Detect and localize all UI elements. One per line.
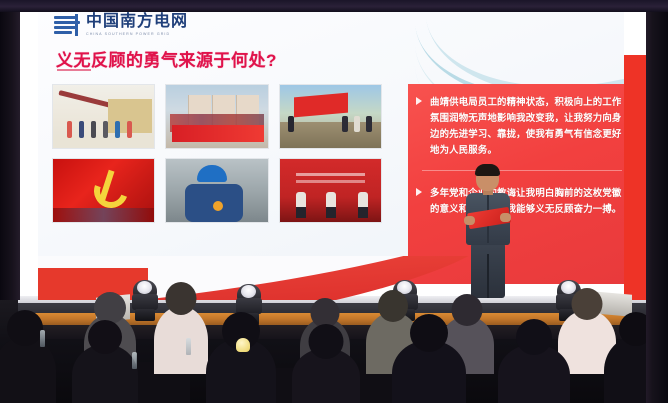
arrow-bullet-icon — [416, 188, 422, 196]
water-bottle — [186, 338, 191, 355]
audience-person — [292, 348, 360, 403]
presenter-figure — [462, 166, 514, 298]
left-wall-pillar — [0, 0, 20, 300]
panel-divider — [422, 170, 622, 171]
title-underline — [57, 69, 91, 71]
photo-4 — [52, 158, 155, 223]
audience-person — [0, 336, 56, 403]
right-wall-pillar — [646, 0, 668, 403]
photo-2 — [165, 84, 268, 149]
power-grid-logo-icon — [54, 14, 80, 36]
photo-row-bottom — [52, 158, 382, 223]
photo-1 — [52, 84, 155, 149]
brand-name-en: CHINA SOUTHERN POWER GRID — [86, 32, 188, 36]
bullet-text-2: 多年党和企业的教诲让我明白胸前的这枚党徽的意义和分量，使我能够义无反顾奋力一搏。 — [430, 185, 624, 217]
arrow-bullet-icon — [416, 97, 422, 105]
water-bottle — [132, 352, 137, 369]
slide-red-right-block — [624, 55, 648, 300]
brand-name-cn: 中国南方电网 — [86, 14, 188, 30]
bullet-item-2: 多年党和企业的教诲让我明白胸前的这枚党徽的意义和分量，使我能够义无反顾奋力一搏。 — [408, 175, 624, 223]
slide-title: 义无反顾的勇气来源于何处? — [56, 46, 277, 71]
photo-6 — [279, 158, 382, 223]
water-bottle — [40, 330, 45, 347]
presentation-slide: 中国南方电网 CHINA SOUTHERN POWER GRID 义无反顾的勇气… — [38, 6, 624, 284]
brand-logo: 中国南方电网 CHINA SOUTHERN POWER GRID — [54, 14, 188, 36]
photo-3 — [279, 84, 382, 149]
photo-row-top — [52, 84, 382, 149]
screenshot-root: 中国南方电网 CHINA SOUTHERN POWER GRID 义无反顾的勇气… — [0, 0, 668, 403]
audience-person — [392, 340, 466, 403]
audience-person — [154, 306, 208, 374]
led-screen-wall: 中国南方电网 CHINA SOUTHERN POWER GRID 义无反顾的勇气… — [18, 0, 648, 300]
moving-head-light-1 — [132, 280, 158, 324]
audience-person — [498, 344, 570, 403]
bullet-text-1: 曲靖供电局员工的精神状态，积极向上的工作氛围润物无声地影响我改变我，让我努力向身… — [430, 94, 624, 158]
audience-person — [72, 344, 138, 403]
cup — [236, 338, 250, 352]
red-text-panel: 曲靖供电局员工的精神状态，积极向上的工作氛围润物无声地影响我改变我，让我努力向身… — [408, 84, 624, 284]
bullet-item-1: 曲靖供电局员工的精神状态，积极向上的工作氛围润物无声地影响我改变我，让我努力向身… — [408, 84, 624, 164]
photo-grid — [52, 84, 382, 232]
ceiling-truss — [0, 0, 668, 12]
photo-5 — [165, 158, 268, 223]
